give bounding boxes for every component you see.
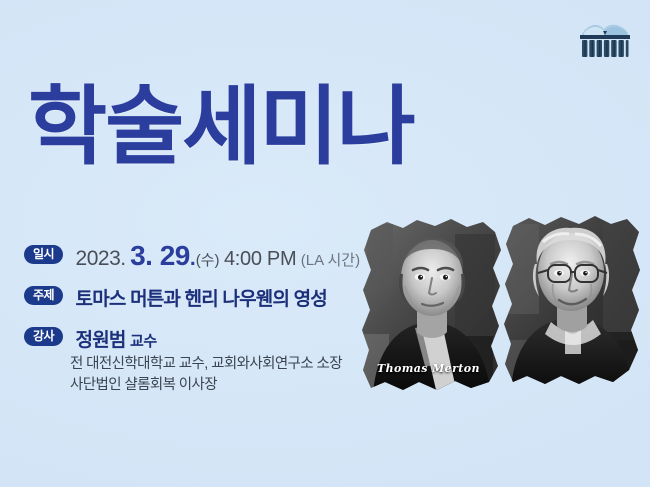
date-time: 4:00 PM	[224, 248, 296, 270]
portrait-henri-nouwen: Henri Nouwen	[499, 214, 647, 389]
date-year: 2023.	[76, 247, 126, 270]
subject-row: 주제 토마스 머튼과 헨리 나우웬의 영성	[24, 284, 424, 311]
speaker-value: 정원범 교수	[76, 325, 157, 352]
speaker-credential-line: 사단법인 샬롬회복 이사장	[70, 375, 424, 396]
speaker-title: 교수	[130, 333, 157, 350]
subject-badge: 주제	[24, 286, 63, 305]
seminar-poster: 학술세미나	[0, 0, 650, 487]
subject-value: 토마스 머튼과 헨리 나우웬의 영성	[76, 284, 327, 311]
page-title: 학술세미나	[28, 84, 414, 170]
date-day-of-week: (수)	[196, 252, 220, 269]
speaker-name: 정원범	[76, 330, 126, 351]
date-row: 일시 2023. 3. 29.(수) 4:00 PM (LA 시간)	[24, 240, 424, 272]
date-timezone: (LA 시간)	[301, 252, 360, 269]
open-book-on-columns-logo	[578, 16, 632, 60]
info-block: 일시 2023. 3. 29.(수) 4:00 PM (LA 시간) 주제 토마…	[24, 240, 424, 402]
date-month-day: 3. 29	[130, 240, 190, 271]
speaker-row: 강사 정원범 교수 전 대전신학대학교 교수, 교회와사회연구소 소장 사단법인…	[24, 325, 424, 396]
speaker-credential-line: 전 대전신학대학교 교수, 교회와사회연구소 소장	[70, 354, 424, 375]
date-value: 2023. 3. 29.(수) 4:00 PM (LA 시간)	[76, 240, 361, 272]
speaker-badge: 강사	[24, 327, 63, 346]
speaker-credentials: 전 대전신학대학교 교수, 교회와사회연구소 소장 사단법인 샬롬회복 이사장	[70, 354, 424, 396]
date-badge: 일시	[24, 245, 63, 264]
